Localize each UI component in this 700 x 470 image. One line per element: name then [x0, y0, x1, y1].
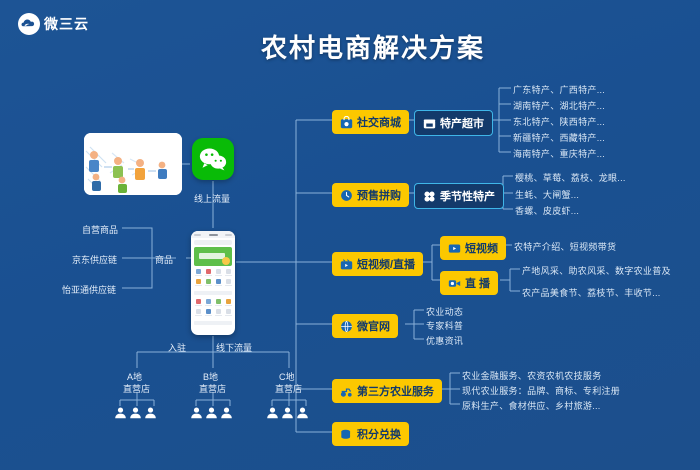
child-node-live-stream[interactable]: 直 播 — [440, 271, 498, 295]
online-traffic-label: 线上流量 — [194, 192, 230, 205]
leaf-specialty-3: 新疆特产、西藏特产... — [513, 131, 605, 144]
globe-icon — [340, 320, 353, 333]
person-icon — [129, 406, 142, 419]
person-icon — [144, 406, 157, 419]
offline-traffic-label: 线下流量 — [216, 341, 252, 354]
page-title: 农村电商解决方案 — [0, 28, 700, 65]
phone-icon-grid — [191, 266, 235, 290]
leaf-seasonal-2: 香螺、皮皮虾... — [515, 204, 579, 217]
phone-search-bar — [194, 240, 232, 245]
person-icon — [114, 406, 127, 419]
person-icon — [205, 406, 218, 419]
leaf-specialty-1: 湖南特产、湖北特产... — [513, 99, 605, 112]
people-group-2 — [266, 406, 309, 419]
person-icon — [220, 406, 233, 419]
phone-status-bar — [191, 231, 235, 238]
infographic-canvas: 微三云 农村电商解决方案 — [0, 0, 700, 470]
store-type-1: 直营店 — [199, 382, 226, 395]
source-label-1: 京东供应链 — [72, 253, 117, 266]
leaf-short-video-0: 农特产介绍、短视频带货 — [514, 240, 616, 253]
child-node-short-video[interactable]: 短视频 — [440, 236, 506, 260]
branch-node-short-video-live[interactable]: 短视频/直播 — [332, 252, 423, 276]
branch-node-points-exchange[interactable]: 积分兑换 — [332, 422, 409, 446]
leaf-wechat-site-0: 农业动态 — [426, 305, 463, 318]
wechat-icon — [192, 138, 234, 180]
person-icon — [296, 406, 309, 419]
branch-label-points-exchange: 积分兑换 — [357, 426, 401, 442]
branch-label-wechat-site: 微官网 — [357, 318, 390, 334]
child-node-specialty-supermarket[interactable]: 特产超市 — [414, 110, 493, 136]
page-title-text: 农村电商解决方案 — [261, 28, 485, 65]
branch-label-social-mall: 社交商城 — [357, 114, 401, 130]
phone-icon-grid-2 — [191, 296, 235, 320]
wechat-miniprogram-phone — [191, 231, 235, 335]
leaf-live-1: 农产品美食节、荔枝节、丰收节... — [522, 286, 661, 299]
tractor-icon — [340, 385, 353, 398]
leaf-third-party-2: 原料生产、食材供应、乡村旅游... — [462, 399, 601, 412]
child-label-seasonal-specialty: 季节性特产 — [440, 188, 495, 204]
camera-icon — [448, 277, 461, 290]
leaf-wechat-site-2: 优惠资讯 — [426, 334, 463, 347]
people-group-1 — [190, 406, 233, 419]
branch-label-third-party-service: 第三方农业服务 — [357, 383, 434, 399]
store-type-0: 直营店 — [123, 382, 150, 395]
leaf-seasonal-1: 生蚝、大闸蟹... — [515, 188, 579, 201]
branch-label-presale: 预售拼购 — [357, 187, 401, 203]
coins-icon — [340, 428, 353, 441]
store-type-2: 直营店 — [275, 382, 302, 395]
store-front-icon — [423, 117, 436, 130]
leaf-wechat-site-1: 专家科普 — [426, 319, 463, 332]
phone-banner — [194, 247, 232, 266]
branch-node-wechat-site[interactable]: 微官网 — [332, 314, 398, 338]
settle-in-label: 入驻 — [168, 341, 186, 354]
person-icon — [281, 406, 294, 419]
clock-icon — [340, 189, 353, 202]
goods-label: 商品 — [155, 253, 173, 266]
branch-node-third-party-service[interactable]: 第三方农业服务 — [332, 379, 442, 403]
video-play-icon — [340, 258, 353, 271]
child-node-seasonal-specialty[interactable]: 季节性特产 — [414, 183, 504, 209]
child-label-specialty-supermarket: 特产超市 — [440, 115, 484, 131]
leaf-seasonal-0: 樱桃、草莓、荔枝、龙眼... — [515, 171, 626, 184]
branch-node-social-mall[interactable]: 社交商城 — [332, 110, 409, 134]
leaf-specialty-2: 东北特产、陕西特产... — [513, 115, 605, 128]
rural-ecommerce-illustration — [84, 133, 182, 195]
grid-four-icon — [423, 190, 436, 203]
branch-node-presale[interactable]: 预售拼购 — [332, 183, 409, 207]
person-icon — [266, 406, 279, 419]
child-label-live-stream: 直 播 — [465, 275, 490, 291]
leaf-third-party-0: 农业金融服务、农资农机农技服务 — [462, 369, 602, 382]
source-label-2: 怡亚通供应链 — [62, 283, 116, 296]
people-group-0 — [114, 406, 157, 419]
leaf-specialty-4: 海南特产、重庆特产... — [513, 147, 605, 160]
leaf-third-party-1: 现代农业服务：品牌、商标、专利注册 — [462, 384, 620, 397]
leaf-specialty-0: 广东特产、广西特产... — [513, 83, 605, 96]
phone-divider-2 — [194, 321, 232, 325]
source-label-0: 自营商品 — [82, 223, 118, 236]
child-label-short-video: 短视频 — [465, 240, 498, 256]
leaf-live-0: 产地风采、助农风采、数字农业普及 — [522, 264, 671, 277]
branch-label-short-video-live: 短视频/直播 — [357, 256, 415, 272]
shop-bag-icon — [340, 116, 353, 129]
phone-divider — [194, 291, 232, 295]
person-icon — [190, 406, 203, 419]
play-button-icon — [448, 242, 461, 255]
